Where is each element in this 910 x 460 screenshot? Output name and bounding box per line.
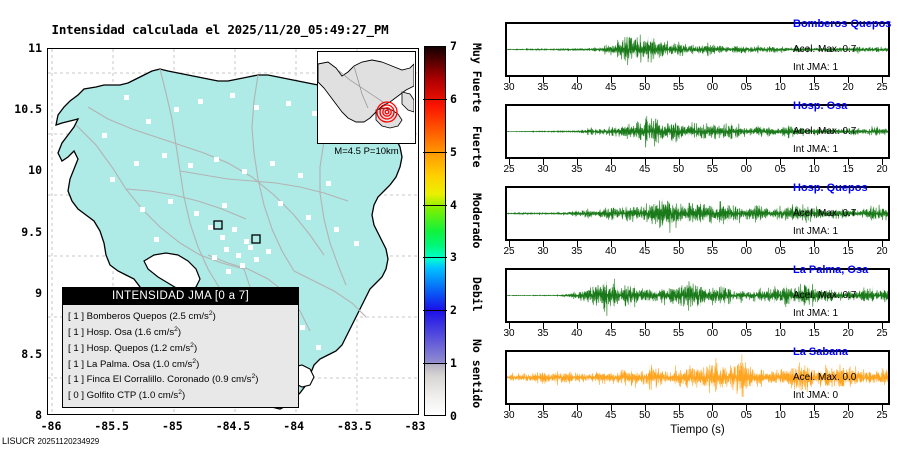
legend-accel: 1.6 (138, 327, 151, 338)
waveform-tick-label: 55 (697, 164, 727, 175)
colorbar-tick-label: 0 (450, 409, 457, 423)
intensity-map[interactable]: M=4.5 P=10km INTENSIDAD JMA [0 a 7] [ 1 … (47, 48, 419, 415)
colorbar-tick-label: 3 (450, 250, 457, 264)
colorbar-gradient (424, 46, 446, 416)
waveform-tick-label: 00 (697, 410, 727, 421)
intensity-legend: INTENSIDAD JMA [0 a 7] [ 1 ] Bomberos Qu… (62, 287, 299, 408)
station-intensity-2: Int JMA: 1 (793, 144, 838, 155)
waveform-time-axis-1: 303540455055000510152025 (505, 77, 890, 95)
watermark: LISUCR 20251120234929 (2, 436, 99, 446)
colorbar-tick-mark (423, 99, 447, 100)
waveform-tick-label: 05 (731, 410, 761, 421)
map-x-tick: -84 (264, 419, 324, 433)
waveform-time-axis-3: 253035404550550005101520 (505, 241, 890, 259)
waveform-xaxis-label: Tiempo (s) (505, 424, 890, 436)
station-name-5[interactable]: La Sabana (793, 346, 848, 358)
waveform-tick-label: 45 (630, 164, 660, 175)
waveform-tick-label: 55 (697, 246, 727, 257)
waveform-tick-label: 45 (596, 410, 626, 421)
waveform-tick-label: 30 (494, 410, 524, 421)
map-y-tick: 10.5 (0, 102, 42, 116)
waveform-tick-label: 50 (630, 410, 660, 421)
waveform-time-axis-4: 303540455055000510152025 (505, 323, 890, 341)
waveform-tick-label: 25 (867, 82, 897, 93)
station-name-4[interactable]: La Palma, Osa (793, 264, 868, 276)
waveform-tick-label: 55 (664, 410, 694, 421)
waveform-tick-label: 55 (664, 328, 694, 339)
waveform-tick-label: 40 (562, 82, 592, 93)
waveform-tick-label: 00 (697, 328, 727, 339)
legend-row: [ 1 ] Hosp. Quepos (1.2 cm/s2) (68, 340, 298, 356)
station-accel-5: Acel. Max. 0.0 (793, 372, 856, 383)
colorbar-category-2: Debil (470, 257, 484, 331)
magnitude-depth-annotation: M=4.5 P=10km (317, 146, 416, 157)
legend-row: [ 1 ] Bomberos Quepos (2.5 cm/s2) (68, 308, 298, 324)
waveform-tick-label: 10 (765, 328, 795, 339)
waveform-tick-label: 25 (494, 246, 524, 257)
map-y-tick: 11 (0, 41, 42, 55)
station-intensity-4: Int JMA: 1 (793, 308, 838, 319)
waveform-time-axis-2: 253035404550550005101520 (505, 159, 890, 177)
waveform-tick-label: 35 (562, 164, 592, 175)
waveform-tick-label: 40 (596, 246, 626, 257)
station-accel-3: Acel. Max. 0.7 (793, 208, 856, 219)
waveform-tick-label: 15 (833, 164, 863, 175)
legend-accel: 1.2 (154, 343, 167, 354)
waveform-tick-label: 00 (731, 246, 761, 257)
waveform-tick-label: 20 (867, 246, 897, 257)
legend-level: [ 1 ] (68, 312, 84, 323)
legend-level: [ 1 ] (68, 359, 84, 370)
legend-row: [ 1 ] Finca El Corralillo. Coronado (0.9… (68, 371, 298, 387)
colorbar-tick-mark (423, 363, 447, 364)
waveform-tick-label: 45 (630, 246, 660, 257)
legend-accel: 2.5 (173, 312, 186, 323)
waveform-tick-label: 50 (664, 246, 694, 257)
waveform-tick-label: 20 (833, 328, 863, 339)
waveform-tick-label: 15 (799, 328, 829, 339)
station-accel-2: Acel. Max. 0.7 (793, 126, 856, 137)
waveform-tick-label: 05 (731, 82, 761, 93)
map-y-tick: 9 (0, 286, 42, 300)
legend-accel: 0.9 (215, 375, 228, 386)
inset-map-svg (318, 52, 414, 142)
legend-row: [ 0 ] Golfito CTP (1.0 cm/s2) (68, 387, 298, 403)
map-y-tick: 9.5 (0, 225, 42, 239)
waveform-tick-label: 35 (528, 410, 558, 421)
waveform-tick-label: 45 (596, 82, 626, 93)
waveform-tick-label: 10 (765, 410, 795, 421)
waveform-tick-label: 10 (765, 82, 795, 93)
legend-row: [ 1 ] Hosp. Osa (1.6 cm/s2) (68, 324, 298, 340)
legend-station: Hosp. Osa (87, 327, 132, 338)
watermark-label: LISUCR (2, 436, 35, 446)
page-title: Intensidad calculada el 2025/11/20_05:49… (0, 22, 440, 37)
colorbar-category-4: Fuerte (470, 109, 484, 183)
waveform-time-axis-5: 303540455055000510152025 (505, 405, 890, 423)
colorbar-tick-mark (423, 205, 447, 206)
waveform-tick-label: 20 (833, 82, 863, 93)
waveform-tick-label: 20 (833, 410, 863, 421)
waveform-tick-label: 55 (664, 82, 694, 93)
colorbar-tick-label: 1 (450, 356, 457, 370)
legend-level: [ 1 ] (68, 343, 84, 354)
waveform-tick-label: 40 (562, 410, 592, 421)
legend-station: Finca El Corralillo. Coronado (87, 375, 210, 386)
watermark-id: 20251120234929 (38, 437, 100, 446)
waveform-tick-label: 35 (528, 82, 558, 93)
station-intensity-1: Int JMA: 1 (793, 62, 838, 73)
map-x-tick: -86 (21, 419, 81, 433)
legend-accel: 1.0 (156, 359, 169, 370)
colorbar-category-5: Muy Fuerte (470, 46, 484, 109)
waveform-tick-label: 30 (528, 246, 558, 257)
legend-station: Bomberos Quepos (87, 312, 167, 323)
waveform-tick-label: 25 (867, 410, 897, 421)
legend-station: Hosp. Quepos (87, 343, 148, 354)
waveform-tick-label: 40 (562, 328, 592, 339)
waveform-tick-label: 00 (697, 82, 727, 93)
colorbar-category-1: No sentido (470, 331, 484, 416)
intensity-colorbar[interactable]: 01234567 No sentidoDebilModeradoFuerteMu… (424, 46, 446, 416)
map-x-tick: -83 (385, 419, 445, 433)
station-intensity-3: Int JMA: 1 (793, 226, 838, 237)
colorbar-tick-label: 6 (450, 92, 457, 106)
waveform-tick-label: 35 (528, 328, 558, 339)
legend-accel: 1.0 (142, 390, 155, 401)
legend-level: [ 1 ] (68, 375, 84, 386)
waveform-tick-label: 50 (630, 328, 660, 339)
station-accel-1: Acel. Max. 0.7 (793, 44, 856, 55)
waveform-tick-label: 05 (765, 164, 795, 175)
legend-level: [ 1 ] (68, 327, 84, 338)
waveform-tick-label: 50 (630, 82, 660, 93)
waveform-tick-label: 50 (664, 164, 694, 175)
waveform-tick-label: 15 (799, 410, 829, 421)
station-name-2[interactable]: Hosp. Osa (793, 100, 847, 112)
colorbar-tick-label: 5 (450, 145, 457, 159)
station-name-3[interactable]: Hosp. Quepos (793, 182, 868, 194)
waveform-tick-label: 45 (596, 328, 626, 339)
waveform-tick-label: 05 (765, 246, 795, 257)
legend-row: [ 1 ] La Palma. Osa (1.0 cm/s2) (68, 356, 298, 372)
waveform-tick-label: 05 (731, 328, 761, 339)
colorbar-tick-label: 2 (450, 303, 457, 317)
waveform-tick-label: 10 (799, 246, 829, 257)
map-y-tick: 10 (0, 163, 42, 177)
colorbar-tick-mark (423, 257, 447, 258)
legend-station: La Palma. Osa (87, 359, 150, 370)
map-x-tick: -83.5 (324, 419, 384, 433)
map-y-tick: 8.5 (0, 347, 42, 361)
waveform-tick-label: 30 (528, 164, 558, 175)
legend-header: INTENSIDAD JMA [0 a 7] (63, 288, 298, 305)
map-x-tick: -84.5 (203, 419, 263, 433)
map-x-tick: -85 (142, 419, 202, 433)
station-intensity-5: Int JMA: 0 (793, 390, 838, 401)
colorbar-tick-label: 7 (450, 39, 457, 53)
waveform-tick-label: 00 (731, 164, 761, 175)
waveform-tick-label: 10 (799, 164, 829, 175)
waveform-tick-label: 30 (494, 328, 524, 339)
waveform-tick-label: 20 (867, 164, 897, 175)
waveform-tick-label: 35 (562, 246, 592, 257)
legend-station: Golfito CTP (87, 390, 136, 401)
epicenter-inset-map (317, 51, 416, 144)
legend-rows: [ 1 ] Bomberos Quepos (2.5 cm/s2) [ 1 ] … (63, 305, 298, 407)
waveform-tick-label: 15 (833, 246, 863, 257)
legend-level: [ 0 ] (68, 390, 84, 401)
colorbar-tick-label: 4 (450, 198, 457, 212)
colorbar-tick-mark (423, 310, 447, 311)
waveform-tick-label: 15 (799, 82, 829, 93)
waveform-tick-label: 40 (596, 164, 626, 175)
waveform-tick-label: 30 (494, 82, 524, 93)
waveform-tick-label: 25 (867, 328, 897, 339)
colorbar-tick-mark (423, 152, 447, 153)
station-accel-4: Acel. Max. 0.7 (793, 290, 856, 301)
colorbar-category-3: Moderado (470, 183, 484, 257)
waveform-tick-label: 25 (494, 164, 524, 175)
map-x-tick: -85.5 (82, 419, 142, 433)
station-name-1[interactable]: Bomberos Quepos (793, 18, 891, 30)
